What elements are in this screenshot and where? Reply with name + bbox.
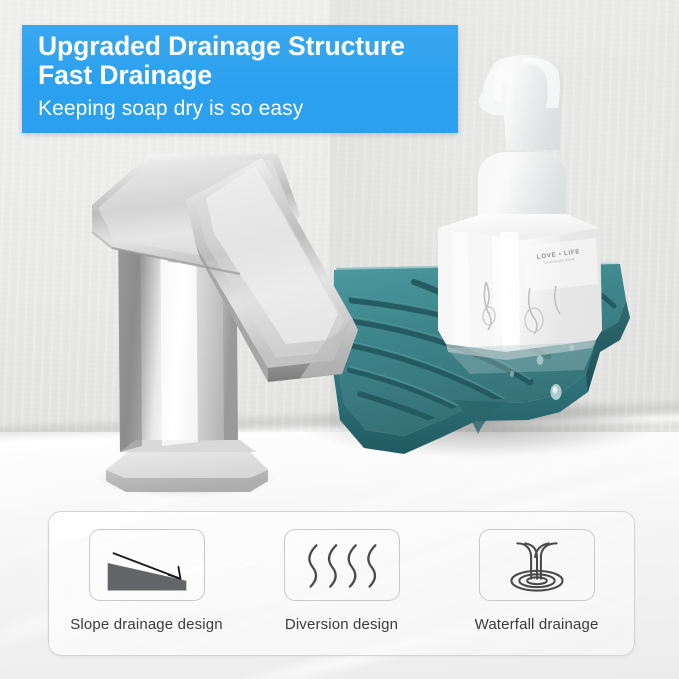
feature-caption: Waterfall drainage xyxy=(475,616,599,633)
headline-title: Upgraded Drainage Structure Fast Drainag… xyxy=(38,32,442,90)
feature-caption: Diversion design xyxy=(285,616,398,633)
slope-ramp-arrow-icon xyxy=(89,529,205,601)
feature-item: Slope drainage design xyxy=(49,512,244,633)
feature-item: Diversion design xyxy=(244,512,439,633)
waterfall-pool-icon xyxy=(479,529,595,601)
feature-panel: Slope drainage design Diversion design xyxy=(48,511,635,656)
wavy-lines-icon xyxy=(284,529,400,601)
feature-item: Waterfall drainage xyxy=(439,512,634,633)
headline-subtitle: Keeping soap dry is so easy xyxy=(38,96,442,121)
feature-caption: Slope drainage design xyxy=(70,616,222,633)
headline-banner: Upgraded Drainage Structure Fast Drainag… xyxy=(22,25,458,133)
product-image-scene: LOVE • LIFE HANDMADE SOAP Upgraded Drain… xyxy=(0,0,679,679)
